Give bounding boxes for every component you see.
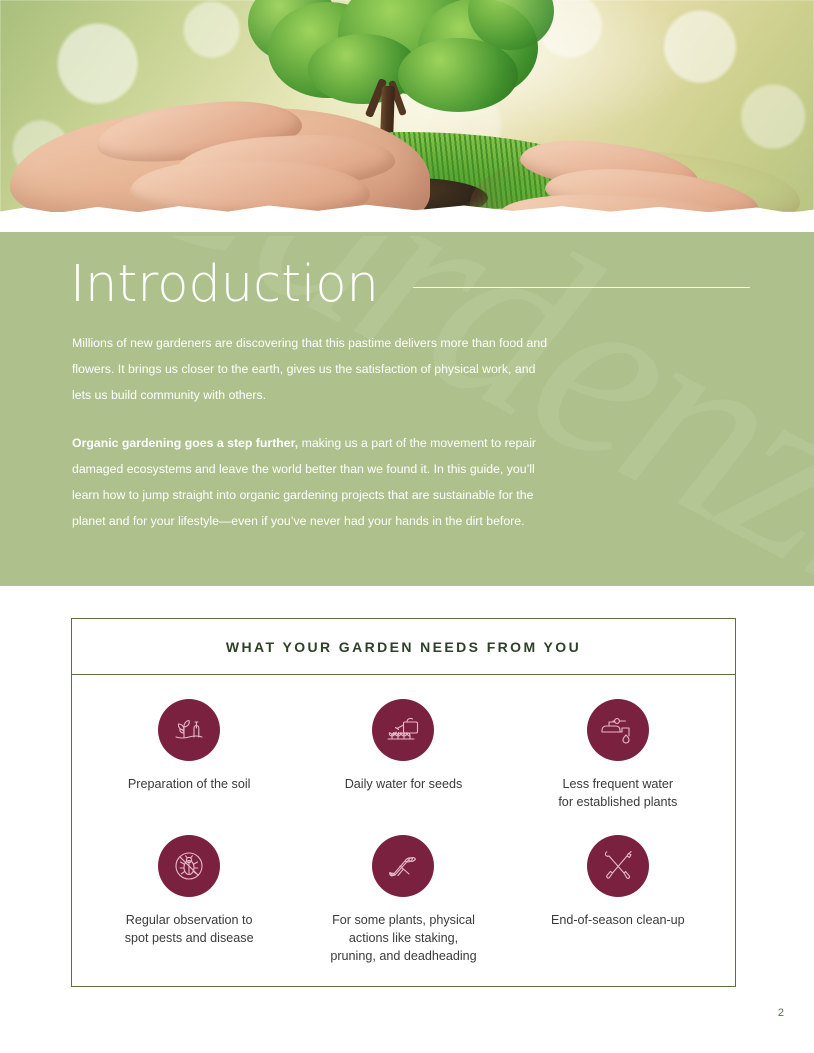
garden-need-item: Less frequent waterfor established plant… — [511, 699, 725, 829]
garden-need-caption: Preparation of the soil — [128, 775, 251, 793]
garden-need-caption: Regular observation tospot pests and dis… — [125, 911, 254, 947]
watering-can-icon — [372, 699, 434, 761]
seedling-trowel-icon — [158, 699, 220, 761]
paragraph-2-lead: Organic gardening goes a step further, — [72, 436, 298, 450]
garden-need-caption: Less frequent waterfor established plant… — [558, 775, 677, 811]
intro-heading-row: Introduction — [70, 258, 750, 312]
page-number: 2 — [778, 1007, 784, 1019]
garden-need-item: For some plants, physicalactions like st… — [296, 835, 510, 965]
intro-body: Millions of new gardeners are discoverin… — [72, 330, 548, 534]
no-pest-icon — [158, 835, 220, 897]
garden-need-caption: Daily water for seeds — [345, 775, 463, 793]
pruning-shears-icon — [372, 835, 434, 897]
garden-need-item: Preparation of the soil — [82, 699, 296, 829]
garden-need-item: Daily water for seeds — [296, 699, 510, 829]
page: Gardenzi Introduction Millions of new ga… — [0, 0, 814, 1053]
garden-needs-title: WHAT YOUR GARDEN NEEDS FROM YOU — [226, 639, 581, 655]
faucet-drip-icon — [587, 699, 649, 761]
intro-paragraph-2: Organic gardening goes a step further, m… — [72, 430, 548, 534]
garden-need-caption: For some plants, physicalactions like st… — [330, 911, 476, 965]
intro-section: Gardenzi Introduction Millions of new ga… — [0, 214, 814, 586]
garden-needs-title-cell: WHAT YOUR GARDEN NEEDS FROM YOU — [72, 619, 735, 675]
garden-need-caption: End-of-season clean-up — [551, 911, 685, 929]
hero-image — [0, 0, 814, 212]
garden-needs-box: WHAT YOUR GARDEN NEEDS FROM YOU — [71, 618, 736, 987]
page-title: Introduction — [70, 258, 379, 312]
crossed-garden-tools-icon — [587, 835, 649, 897]
paragraph-1-text: Millions of new gardeners are discoverin… — [72, 336, 547, 402]
garden-need-item: End-of-season clean-up — [511, 835, 725, 965]
intro-paragraph-1: Millions of new gardeners are discoverin… — [72, 330, 548, 408]
garden-needs-grid: Preparation of the soil — [72, 675, 735, 965]
heading-divider — [413, 287, 750, 288]
garden-need-item: Regular observation tospot pests and dis… — [82, 835, 296, 965]
